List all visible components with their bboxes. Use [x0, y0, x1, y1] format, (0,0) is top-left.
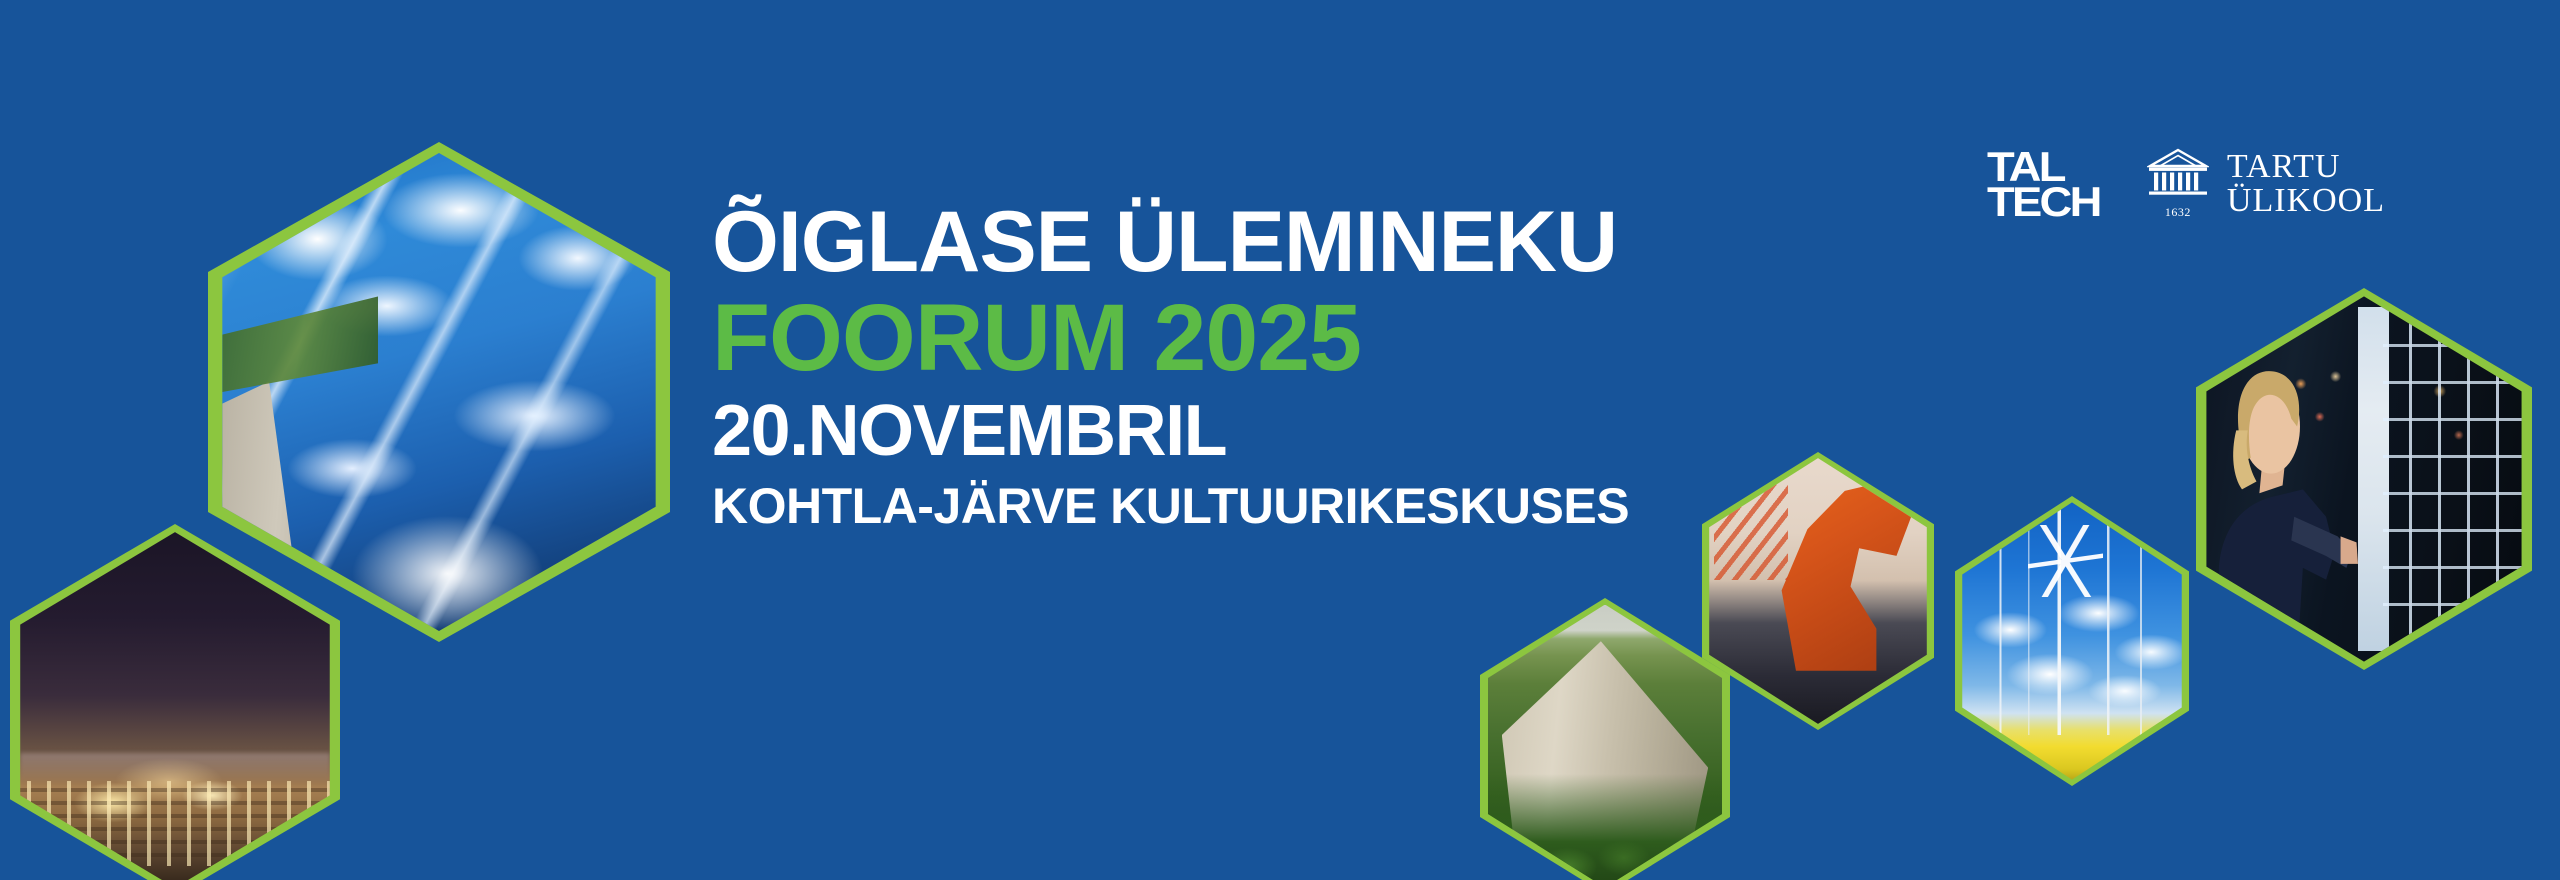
hexagon-photo-clip — [1488, 605, 1723, 880]
partner-logos: TAL TECH — [1987, 148, 2385, 220]
event-date: 20.NOVEMBRIL — [712, 395, 1712, 467]
hexagon-photo-clip — [2206, 296, 2521, 661]
night-industrial-city-photo — [10, 524, 340, 880]
ash-hill-imagery — [1488, 605, 1723, 880]
hexagon-frame — [1955, 496, 2189, 786]
ash-hill-photo — [1480, 598, 1730, 880]
tartu-ulikool-logo[interactable]: 1632 TARTU ÜLIKOOL — [2147, 148, 2385, 220]
tartu-logo-year: 1632 — [2165, 205, 2191, 220]
tartu-logo-line-2: ÜLIKOOL — [2227, 184, 2385, 218]
tartu-logo-line-1: TARTU — [2227, 150, 2385, 184]
classical-building-icon — [2147, 148, 2209, 202]
headline-block: ÕIGLASE ÜLEMINEKU FOORUM 2025 20.NOVEMBR… — [712, 200, 1712, 531]
digital-display-photo — [2196, 288, 2532, 670]
taltech-logo[interactable]: TAL TECH — [1987, 149, 2091, 220]
digital-display-imagery — [2206, 296, 2521, 661]
hexagon-photo-clip — [1709, 458, 1927, 724]
tartu-logo-wordmark: TARTU ÜLIKOOL — [2227, 150, 2385, 218]
hexagon-frame — [1480, 598, 1730, 880]
event-title-line-2: FOORUM 2025 — [712, 290, 1712, 387]
woman-silhouette — [2213, 348, 2358, 662]
hexagon-frame — [2196, 288, 2532, 670]
hexagon-photo-clip — [1962, 502, 2181, 779]
event-venue: KOHTLA-JÄRVE KULTUURIKESKUSES — [712, 481, 1712, 531]
taltech-logo-line-2: TECH — [1987, 184, 2100, 219]
hexagon-frame — [1702, 452, 1934, 730]
event-title-line-1: ÕIGLASE ÜLEMINEKU — [712, 200, 1712, 284]
wind-turbines-imagery — [1962, 502, 2181, 779]
industrial-robot-photo — [1702, 452, 1934, 730]
tartu-logo-mark: 1632 — [2147, 148, 2209, 220]
hexagon-photo-clip — [20, 532, 330, 880]
hexagon-frame — [10, 524, 340, 880]
wind-turbines-photo — [1955, 496, 2189, 786]
industrial-robot-imagery — [1709, 458, 1927, 724]
night-city-imagery — [20, 532, 330, 880]
event-banner: ÕIGLASE ÜLEMINEKU FOORUM 2025 20.NOVEMBR… — [0, 0, 2560, 880]
